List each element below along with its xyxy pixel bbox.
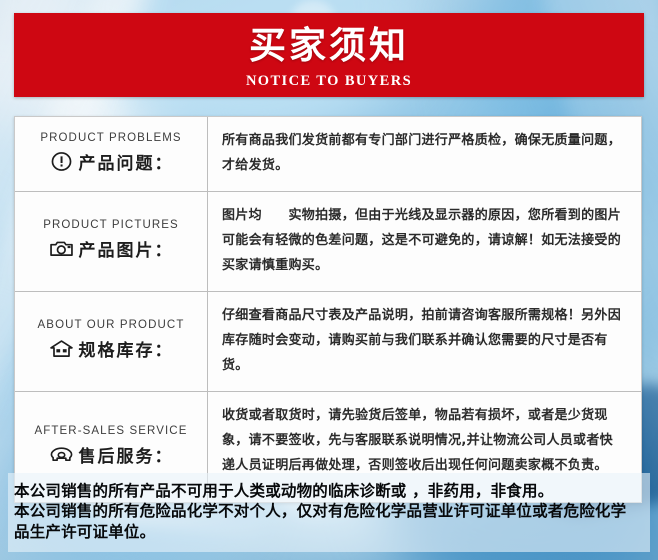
banner-title-cn: 买家须知 bbox=[14, 13, 644, 64]
row-label-cn: 产品问题： bbox=[79, 149, 174, 174]
camera-icon bbox=[49, 239, 74, 258]
row-label-product-problems: PRODUCT PROBLEMS 产品问题： bbox=[15, 117, 208, 191]
row-label-en: ABOUT OUR PRODUCT bbox=[38, 319, 185, 331]
row-body: 所有商品我们发货前都有专门部门进行严格质检，确保无质量问题，才给发货。 bbox=[208, 117, 641, 191]
row-label-cn-wrap: 售后服务： bbox=[49, 442, 174, 467]
table-row: PRODUCT PICTURES 产品图片： 图片均 实物拍摄，但由于光线及显示… bbox=[15, 192, 641, 292]
row-label-en: PRODUCT PICTURES bbox=[43, 219, 179, 231]
telephone-icon bbox=[49, 445, 74, 464]
notice-table: PRODUCT PROBLEMS 产品问题： 所有商品我们发货前都有专门部门进行… bbox=[14, 116, 642, 503]
warehouse-icon bbox=[49, 339, 74, 358]
footer-disclaimer: 本公司销售的所有产品不可用于人类或动物的临床诊断或 ，非药用，非食用。 本公司销… bbox=[8, 473, 650, 552]
row-label-en: PRODUCT PROBLEMS bbox=[40, 132, 181, 144]
row-label-cn: 规格库存： bbox=[79, 336, 174, 361]
disclaimer-line-1: 本公司销售的所有产品不可用于人类或动物的临床诊断或 ，非药用，非食用。 bbox=[14, 481, 640, 501]
row-label-cn-wrap: 规格库存： bbox=[49, 336, 174, 361]
header-banner: 买家须知 NOTICE TO BUYERS bbox=[14, 13, 644, 97]
row-label-cn: 产品图片： bbox=[79, 236, 174, 261]
banner-title-en: NOTICE TO BUYERS bbox=[14, 73, 644, 90]
row-label-cn: 售后服务： bbox=[79, 442, 174, 467]
table-row: ABOUT OUR PRODUCT 规格库存： 仔细查看商品尺寸表及产品说明，拍… bbox=[15, 292, 641, 392]
row-label-about-our-product: ABOUT OUR PRODUCT 规格库存： bbox=[15, 292, 208, 391]
table-row: PRODUCT PROBLEMS 产品问题： 所有商品我们发货前都有专门部门进行… bbox=[15, 117, 641, 192]
row-label-en: AFTER-SALES SERVICE bbox=[35, 425, 188, 437]
notice-page: 买家须知 NOTICE TO BUYERS PRODUCT PROBLEMS 产… bbox=[0, 0, 658, 560]
row-label-cn-wrap: 产品图片： bbox=[49, 236, 174, 261]
row-body: 仔细查看商品尺寸表及产品说明，拍前请咨询客服所需规格！另外因库存随时会变动，请购… bbox=[208, 292, 641, 391]
row-body: 图片均 实物拍摄，但由于光线及显示器的原因，您所看到的图片可能会有轻微的色差问题… bbox=[208, 192, 641, 291]
disclaimer-line-2: 本公司销售的所有危险品化学不对个人，仅对有危险化学品营业许可证单位或者危险化学品… bbox=[14, 501, 640, 542]
exclamation-circle-icon bbox=[49, 152, 74, 171]
row-label-product-pictures: PRODUCT PICTURES 产品图片： bbox=[15, 192, 208, 291]
row-label-cn-wrap: 产品问题： bbox=[49, 149, 174, 174]
